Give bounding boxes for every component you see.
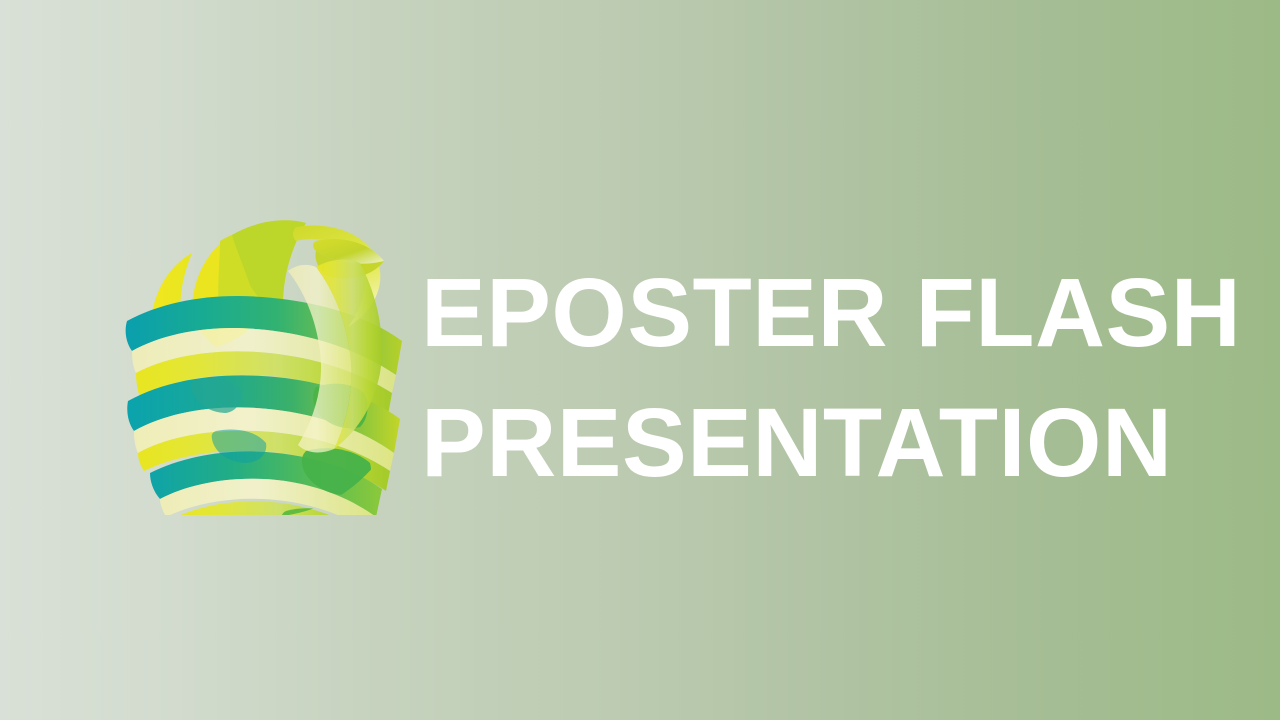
globe-ribbon-leaf-logo — [120, 205, 410, 515]
globe-ribbons — [126, 220, 402, 515]
title-line-2: PRESENTATION — [421, 378, 1211, 508]
title-line-1: EPOSTER FLASH — [421, 248, 1211, 378]
page-title: EPOSTER FLASH PRESENTATION — [421, 248, 1211, 508]
slide-canvas: EPOSTER FLASH PRESENTATION — [0, 0, 1280, 720]
